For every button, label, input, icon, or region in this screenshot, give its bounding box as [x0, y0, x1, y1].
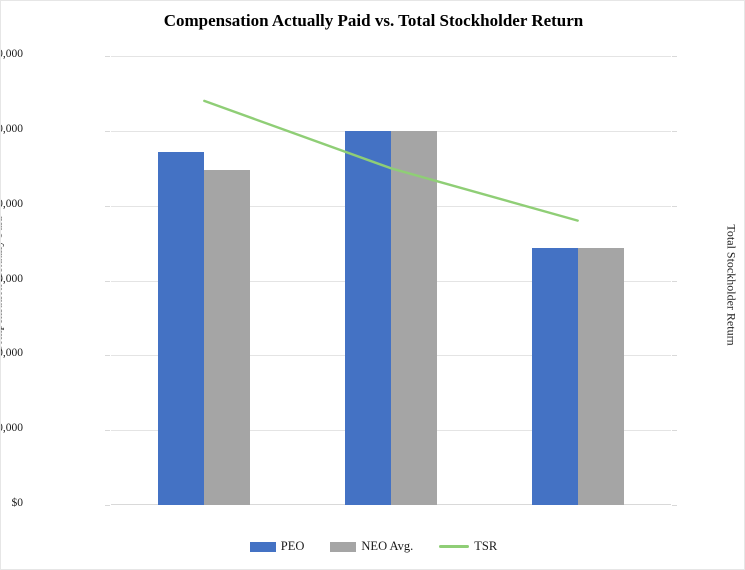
y-axis-left-tick: [105, 206, 110, 207]
bar-neo-avg-2022: [204, 170, 250, 505]
line-swatch-icon: [439, 545, 469, 548]
bar-peo-2022: [158, 152, 204, 505]
y-axis-right-tick: [672, 505, 677, 506]
y-axis-left-tick-label: $200,000: [0, 347, 23, 359]
legend-label: TSR: [474, 539, 497, 554]
y-axis-left-tick-label: $100,000: [0, 422, 23, 434]
chart-title: Compensation Actually Paid vs. Total Sto…: [1, 11, 745, 31]
chart-container: Compensation Actually Paid vs. Total Sto…: [0, 0, 745, 570]
legend-item-neo-avg[interactable]: NEO Avg.: [330, 539, 413, 554]
y-axis-left-tick-label: $500,000: [0, 123, 23, 135]
square-swatch-icon: [250, 542, 276, 552]
bar-peo-2023: [345, 131, 391, 505]
y-axis-right-tick: [672, 355, 677, 356]
legend-label: PEO: [281, 539, 305, 554]
y-axis-right-tick: [672, 281, 677, 282]
y-axis-left-tick-label: $0: [12, 497, 24, 509]
y-axis-right-title: Total Stockholder Return: [724, 224, 739, 345]
chart-legend: PEONEO Avg.TSR: [1, 539, 745, 554]
legend-label: NEO Avg.: [361, 539, 413, 554]
y-axis-left-tick-label: $300,000: [0, 273, 23, 285]
y-axis-left-tick: [105, 355, 110, 356]
y-axis-right-tick: [672, 430, 677, 431]
y-axis-left-tick: [105, 56, 110, 57]
y-axis-left-tick: [105, 505, 110, 506]
y-axis-left-tick-label: $600,000: [0, 48, 23, 60]
square-swatch-icon: [330, 542, 356, 552]
y-axis-right-tick: [672, 56, 677, 57]
plot-area: $0$100,000$200,000$300,000$400,000$500,0…: [111, 56, 671, 505]
legend-item-tsr[interactable]: TSR: [439, 539, 497, 554]
bar-peo-2024: [532, 248, 578, 505]
bar-neo-avg-2023: [391, 131, 437, 505]
bar-neo-avg-2024: [578, 248, 624, 505]
y-axis-left-title: Compensation Actually Paid: [0, 216, 6, 353]
y-axis-right-tick: [672, 206, 677, 207]
y-axis-left-tick: [105, 430, 110, 431]
gridline: [111, 56, 671, 57]
y-axis-left-tick: [105, 131, 110, 132]
y-axis-left-tick: [105, 281, 110, 282]
y-axis-left-tick-label: $400,000: [0, 198, 23, 210]
y-axis-right-tick: [672, 131, 677, 132]
legend-item-peo[interactable]: PEO: [250, 539, 305, 554]
